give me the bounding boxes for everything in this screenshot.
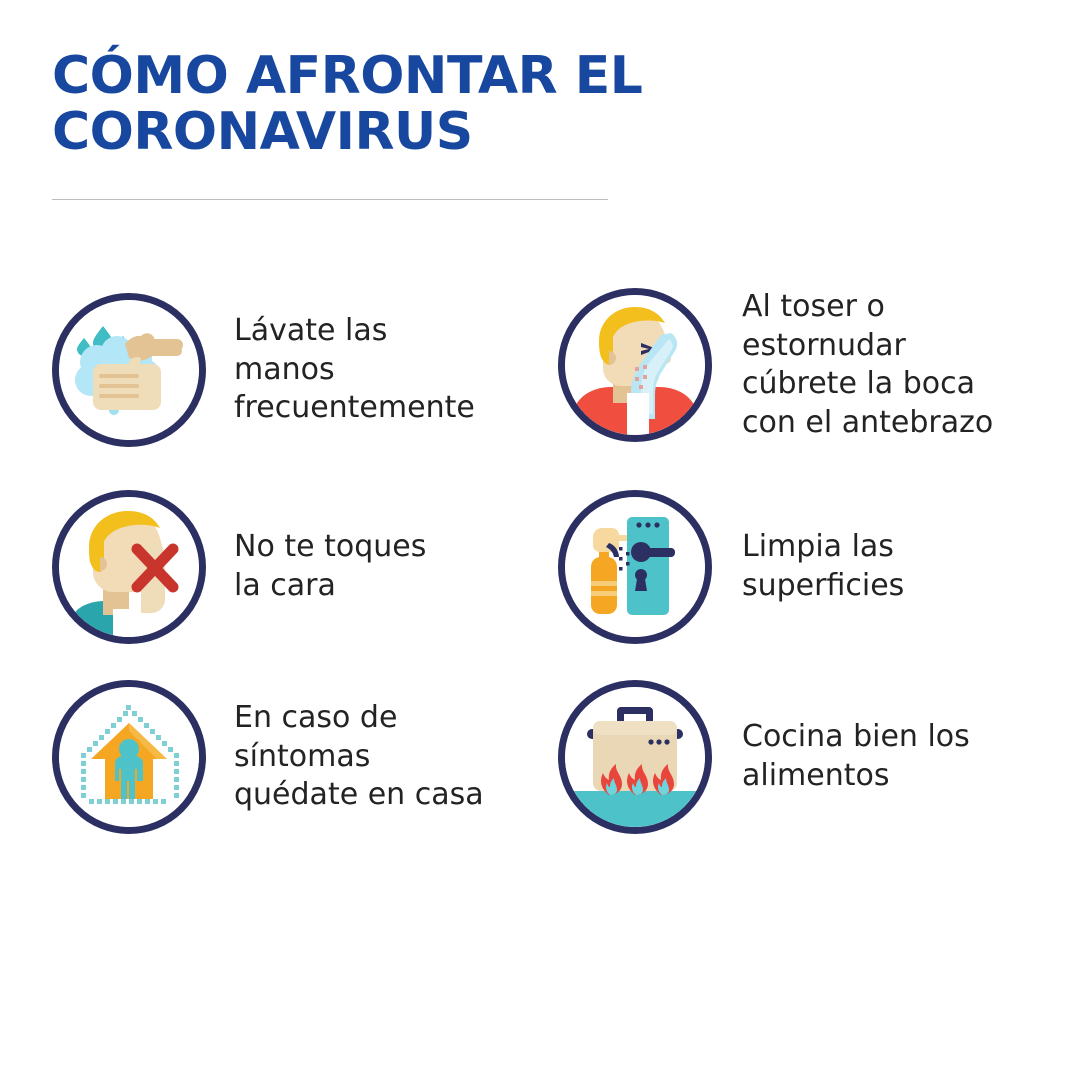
tip-cover-cough: Al toser o estornudar cúbrete la boca co…	[558, 288, 993, 443]
infographic-poster: CÓMO AFRONTAR EL CORONAVIRUS	[0, 0, 1080, 1080]
tip-label: En caso de síntomas quédate en casa	[234, 699, 484, 815]
tip-clean-surfaces: Limpia las superficies	[558, 490, 904, 644]
tip-label: Cocina bien los alimentos	[742, 718, 970, 795]
tip-wash-hands: Lávate las manos frecuentemente	[52, 293, 475, 447]
hand-washing-icon	[52, 293, 206, 447]
tip-label: Lávate las manos frecuentemente	[234, 312, 475, 428]
tips-grid: Lávate las manos frecuentemente	[0, 0, 1080, 1080]
cooking-pot-icon	[558, 680, 712, 834]
stay-home-icon	[52, 680, 206, 834]
cover-cough-icon	[558, 288, 712, 442]
tip-cook-food: Cocina bien los alimentos	[558, 680, 970, 834]
tip-label: No te toques la cara	[234, 528, 426, 605]
tip-label: Al toser o estornudar cúbrete la boca co…	[742, 288, 993, 443]
tip-dont-touch-face: No te toques la cara	[52, 490, 426, 644]
tip-stay-home: En caso de síntomas quédate en casa	[52, 680, 484, 834]
no-touch-face-icon	[52, 490, 206, 644]
spray-door-handle-icon	[558, 490, 712, 644]
tip-label: Limpia las superficies	[742, 528, 904, 605]
